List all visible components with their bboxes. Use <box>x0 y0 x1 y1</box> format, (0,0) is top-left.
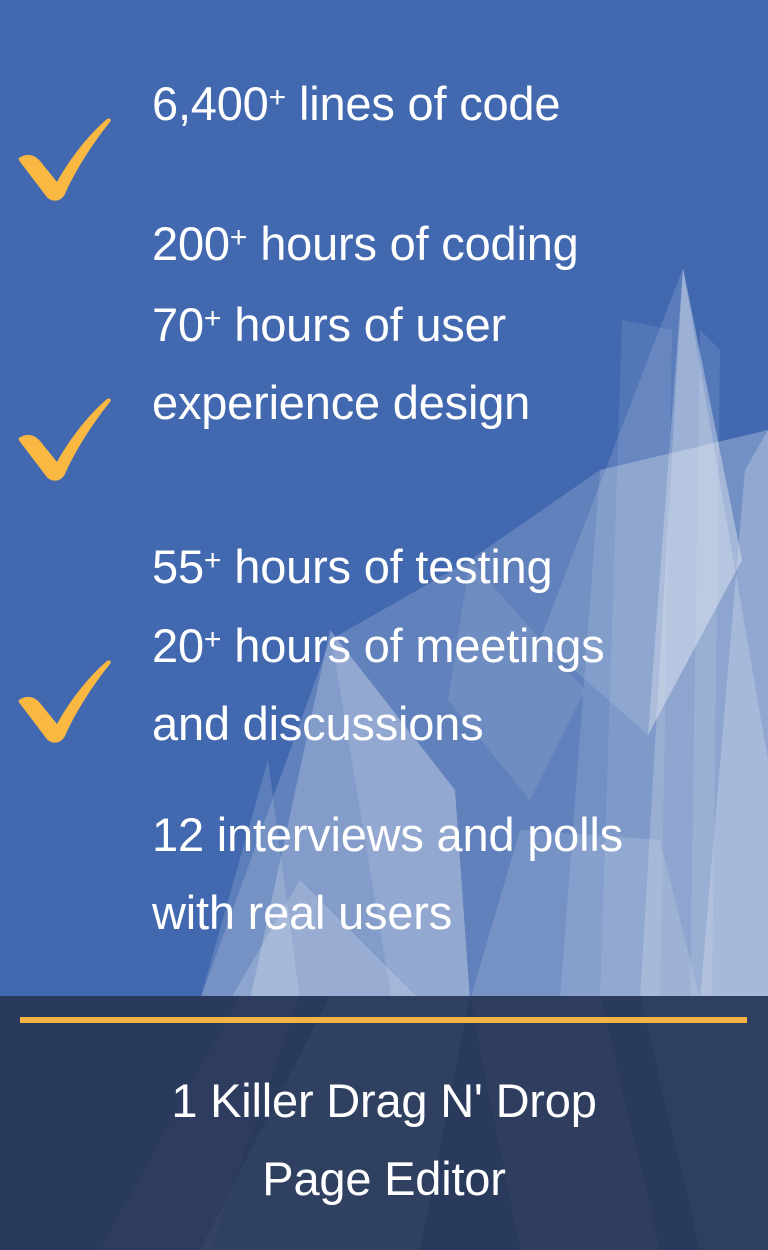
footer-band: 1 Killer Drag N' Drop Page Editor <box>0 996 768 1250</box>
list-item-number: 12 <box>152 808 204 861</box>
list-item-label: 12 interviews and polls with real users <box>152 712 752 952</box>
promo-poster: 6,400+ lines of code 200+ hours of codin… <box>0 0 768 1250</box>
list-item-plus: + <box>204 623 222 656</box>
footer-divider <box>20 1017 747 1023</box>
list-item-plus: + <box>269 81 287 114</box>
list-item-number: 70 <box>152 298 204 351</box>
list-item-number: 20 <box>152 619 204 672</box>
list-item-label: 70+ hours of user experience design <box>152 202 752 442</box>
achievement-checklist: 6,400+ lines of code 200+ hours of codin… <box>0 0 768 996</box>
footer-headline: 1 Killer Drag N' Drop Page Editor <box>0 1062 768 1218</box>
checkmark-icon <box>10 390 118 486</box>
checkmark-icon <box>10 110 118 206</box>
list-item-description: interviews and polls with real users <box>152 808 623 939</box>
list-item-plus: + <box>204 302 222 335</box>
checkmark-icon <box>10 652 118 748</box>
